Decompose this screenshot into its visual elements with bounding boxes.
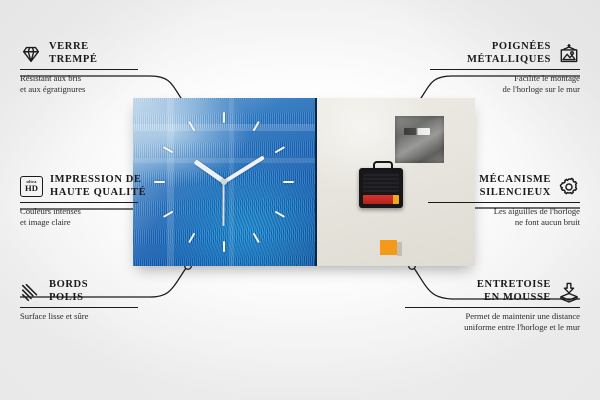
metal-hanger-plate [395,116,444,163]
clock-minute-hand [223,155,265,183]
hanger-slot [404,128,430,135]
callout-poignees-metalliques: POIGNÉES MÉTALLIQUES Facilite le montage… [430,41,580,94]
polished-edges-icon [20,281,42,303]
clock-center-hub [221,179,227,185]
battery [363,195,395,204]
battery-positive-tip [393,195,399,204]
callout-verre-trempe: VERRE TREMPÉ Résistant aux bris et aux é… [20,41,138,94]
callout-title: VERRE TREMPÉ [49,41,98,66]
callout-title: POIGNÉES MÉTALLIQUES [467,41,551,66]
callout-header: ultra HD IMPRESSION DE HAUTE QUALITÉ [20,174,138,199]
clock-second-hand [223,182,225,226]
clock-tick [188,121,195,132]
callout-mecanisme-silencieux: MÉCANISME SILENCIEUX Les aiguilles de l'… [428,174,580,227]
callout-rule [20,69,138,70]
ultra-hd-icon-big-text: HD [25,184,38,193]
callout-bords-polis: BORDS POLIS Surface lisse et sûre [20,279,138,322]
clock-front-panel [133,98,317,266]
foam-spacer-arrow-icon [558,281,580,303]
mechanism-label-panel [363,173,399,192]
clock-mechanism [359,168,403,208]
callout-header: POIGNÉES MÉTALLIQUES [430,41,580,66]
callout-rule [20,307,138,308]
clock-tick [154,181,165,183]
callout-header: BORDS POLIS [20,279,138,304]
foam-spacer-shadow [397,242,402,256]
ultra-hd-icon: ultra HD [20,176,43,197]
callout-rule [405,307,580,308]
clock-tick [275,146,286,153]
callout-rule [428,202,580,203]
callout-rule [20,202,138,203]
clock-tick [223,241,225,252]
callout-description: Résistant aux bris et aux égratignures [20,73,138,94]
diamond-icon [20,43,42,65]
callout-title: IMPRESSION DE HAUTE QUALITÉ [50,174,146,199]
callout-description: Les aiguilles de l'horloge ne font aucun… [428,206,580,227]
foam-spacer [380,240,397,255]
clock-dial [133,98,315,266]
callout-entretoise-en-mousse: ENTRETOISE EN MOUSSE Permet de maintenir… [405,279,580,332]
callout-description: Permet de maintenir une distance uniform… [405,311,580,332]
callout-header: ENTRETOISE EN MOUSSE [405,279,580,304]
clock-tick [188,233,195,244]
product-clock [133,98,475,266]
callout-title: ENTRETOISE EN MOUSSE [477,279,551,304]
clock-tick [253,121,260,132]
clock-tick [163,211,174,218]
clock-tick [163,146,174,153]
callout-description: Couleurs intenses et image claire [20,206,138,227]
callout-title: BORDS POLIS [49,279,88,304]
picture-frame-hanging-icon [558,43,580,65]
clock-tick [223,112,225,123]
callout-header: VERRE TREMPÉ [20,41,138,66]
clock-tick [253,233,260,244]
callout-header: MÉCANISME SILENCIEUX [428,174,580,199]
clock-tick [275,211,286,218]
mechanism-hook [373,161,393,172]
infographic-canvas: VERRE TREMPÉ Résistant aux bris et aux é… [0,0,600,400]
callout-description: Facilite le montage de l'horloge sur le … [430,73,580,94]
callout-description: Surface lisse et sûre [20,311,138,321]
gear-icon [558,176,580,198]
callout-impression-haute-qualite: ultra HD IMPRESSION DE HAUTE QUALITÉ Cou… [20,174,138,227]
callout-title: MÉCANISME SILENCIEUX [479,174,551,199]
callout-rule [430,69,580,70]
clock-tick [283,181,294,183]
